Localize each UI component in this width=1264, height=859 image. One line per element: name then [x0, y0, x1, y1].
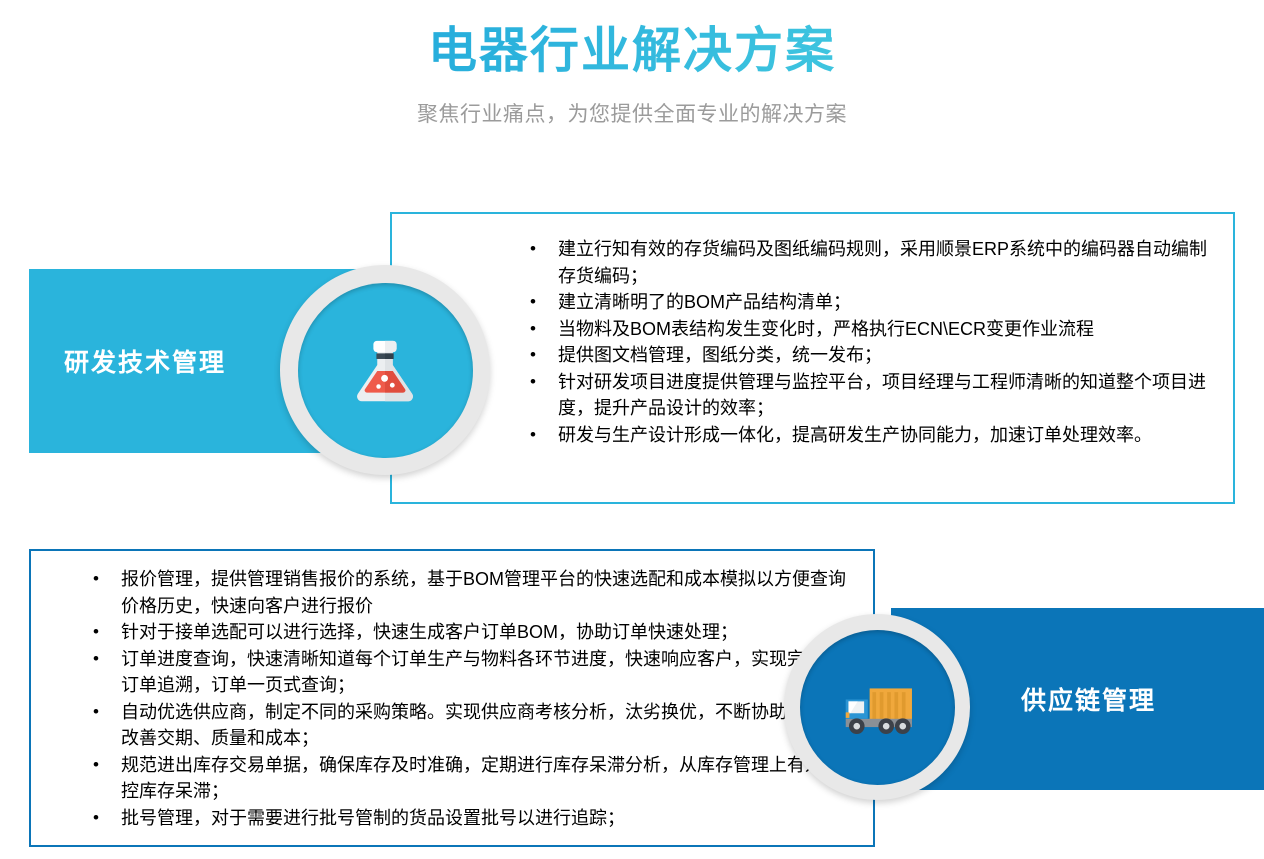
- list-item: 研发与生产设计形成一体化，提高研发生产协同能力，加速订单处理效率。: [524, 422, 1215, 449]
- truck-icon: [831, 659, 923, 756]
- section-icon-badge-rd: [280, 265, 490, 475]
- list-item: 建立清晰明了的BOM产品结构清单；: [524, 289, 1215, 316]
- list-item: 建立行知有效的存货编码及图纸编码规则，采用顺景ERP系统中的编码器自动编制存货编…: [524, 236, 1215, 289]
- section-icon-circle-sc: [800, 630, 955, 785]
- list-item: 订单进度查询，快速清晰知道每个订单生产与物料各环节进度，快速响应客户，实现完整的…: [87, 646, 851, 699]
- list-item: 当物料及BOM表结构发生变化时，严格执行ECN\ECR变更作业流程: [524, 316, 1215, 343]
- list-item: 针对研发项目进度提供管理与监控平台，项目经理与工程师清晰的知道整个项目进度，提升…: [524, 369, 1215, 422]
- list-item: 自动优选供应商，制定不同的采购策略。实现供应商考核分析，汰劣换优，不断协助供应商…: [87, 699, 851, 752]
- page-subtitle: 聚焦行业痛点，为您提供全面专业的解决方案: [0, 100, 1264, 130]
- list-item: 报价管理，提供管理销售报价的系统，基于BOM管理平台的快速选配和成本模拟以方便查…: [87, 566, 851, 619]
- page-title: 电器行业解决方案: [0, 20, 1264, 82]
- bullet-list-sc: 报价管理，提供管理销售报价的系统，基于BOM管理平台的快速选配和成本模拟以方便查…: [87, 566, 851, 831]
- section-icon-badge-sc: [784, 614, 970, 800]
- section-text-box-sc: 报价管理，提供管理销售报价的系统，基于BOM管理平台的快速选配和成本模拟以方便查…: [29, 549, 875, 847]
- list-item: 针对于接单选配可以进行选择，快速生成客户订单BOM，协助订单快速处理；: [87, 619, 851, 646]
- list-item: 提供图文档管理，图纸分类，统一发布；: [524, 342, 1215, 369]
- list-item: 批号管理，对于需要进行批号管制的货品设置批号以进行追踪；: [87, 805, 851, 832]
- section-text-box-rd: 建立行知有效的存货编码及图纸编码规则，采用顺景ERP系统中的编码器自动编制存货编…: [390, 212, 1235, 504]
- flask-icon: [342, 325, 428, 416]
- list-item: 规范进出库存交易单据，确保库存及时准确，定期进行库存呆滞分析，从库存管理上有效监…: [87, 752, 851, 805]
- bullet-list-rd: 建立行知有效的存货编码及图纸编码规则，采用顺景ERP系统中的编码器自动编制存货编…: [524, 236, 1215, 448]
- section-label-sc: 供应链管理: [1021, 681, 1156, 717]
- section-icon-circle-rd: [298, 283, 473, 458]
- section-label-rd: 研发技术管理: [64, 343, 226, 379]
